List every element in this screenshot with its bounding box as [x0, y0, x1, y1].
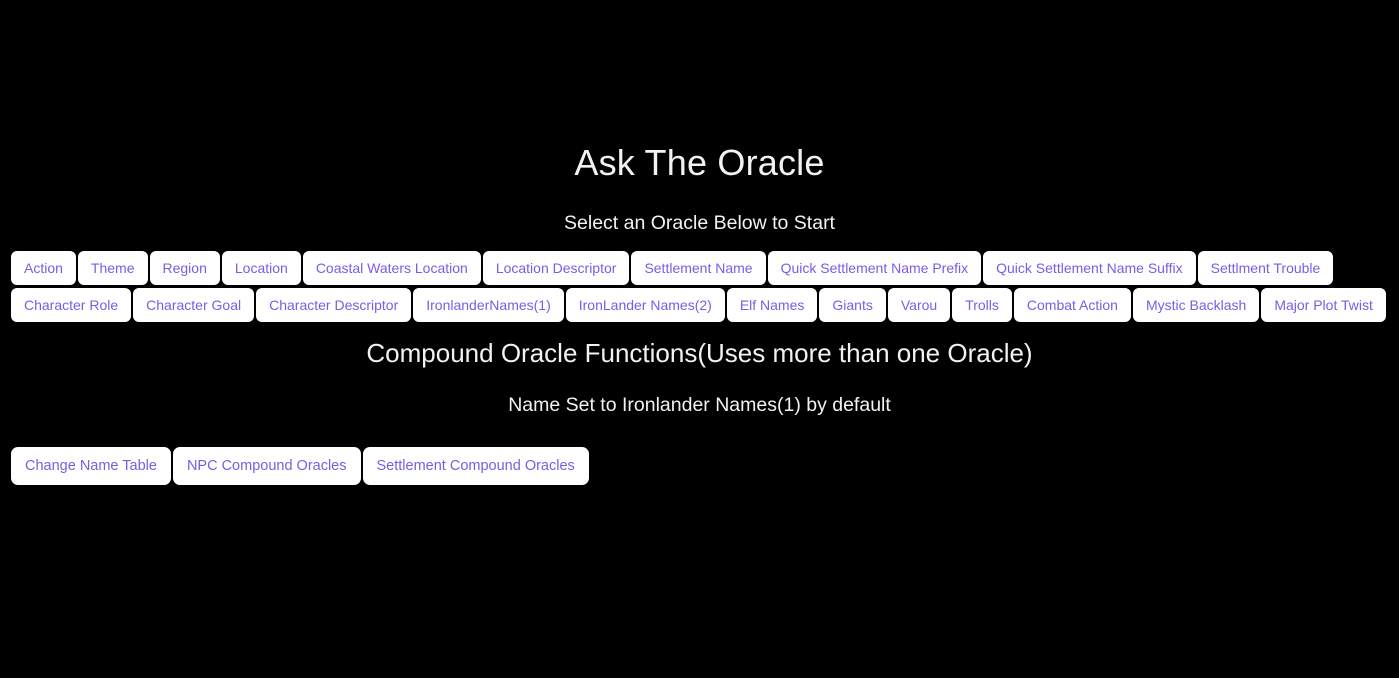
- oracle-button-ironlandernames1[interactable]: IronlanderNames(1): [413, 288, 564, 322]
- oracle-button-character-goal[interactable]: Character Goal: [133, 288, 254, 322]
- compound-section-title: Compound Oracle Functions(Uses more than…: [0, 322, 1399, 370]
- oracle-button-giants[interactable]: Giants: [819, 288, 885, 322]
- compound-button-group: Change Name TableNPC Compound OraclesSet…: [0, 447, 1399, 485]
- oracle-button-region[interactable]: Region: [150, 251, 220, 285]
- oracle-button-settlment-trouble[interactable]: Settlment Trouble: [1198, 251, 1334, 285]
- oracle-button-major-plot-twist[interactable]: Major Plot Twist: [1261, 288, 1386, 322]
- oracle-button-quick-settlement-name-suffix[interactable]: Quick Settlement Name Suffix: [983, 251, 1195, 285]
- compound-section-subtitle: Name Set to Ironlander Names(1) by defau…: [0, 370, 1399, 418]
- oracle-button-character-descriptor[interactable]: Character Descriptor: [256, 288, 411, 322]
- page-subtitle: Select an Oracle Below to Start: [0, 186, 1399, 236]
- page-title: Ask The Oracle: [0, 0, 1399, 186]
- oracle-button-coastal-waters-location[interactable]: Coastal Waters Location: [303, 251, 481, 285]
- oracle-button-varou[interactable]: Varou: [888, 288, 950, 322]
- oracle-button-action[interactable]: Action: [11, 251, 76, 285]
- oracle-button-settlement-name[interactable]: Settlement Name: [631, 251, 765, 285]
- oracle-button-character-role[interactable]: Character Role: [11, 288, 131, 322]
- oracle-button-quick-settlement-name-prefix[interactable]: Quick Settlement Name Prefix: [768, 251, 982, 285]
- oracle-button-group: ActionThemeRegionLocationCoastal Waters …: [0, 251, 1399, 322]
- oracle-button-combat-action[interactable]: Combat Action: [1014, 288, 1131, 322]
- oracle-button-trolls[interactable]: Trolls: [952, 288, 1012, 322]
- oracle-button-elf-names[interactable]: Elf Names: [727, 288, 818, 322]
- oracle-page: Ask The Oracle Select an Oracle Below to…: [0, 0, 1399, 678]
- oracle-button-location-descriptor[interactable]: Location Descriptor: [483, 251, 630, 285]
- oracle-button-location[interactable]: Location: [222, 251, 301, 285]
- compound-button-npc-compound-oracles[interactable]: NPC Compound Oracles: [173, 447, 361, 485]
- compound-button-settlement-compound-oracles[interactable]: Settlement Compound Oracles: [363, 447, 589, 485]
- oracle-button-theme[interactable]: Theme: [78, 251, 148, 285]
- oracle-button-mystic-backlash[interactable]: Mystic Backlash: [1133, 288, 1259, 322]
- compound-button-change-name-table[interactable]: Change Name Table: [11, 447, 171, 485]
- oracle-button-ironlander-names2[interactable]: IronLander Names(2): [566, 288, 725, 322]
